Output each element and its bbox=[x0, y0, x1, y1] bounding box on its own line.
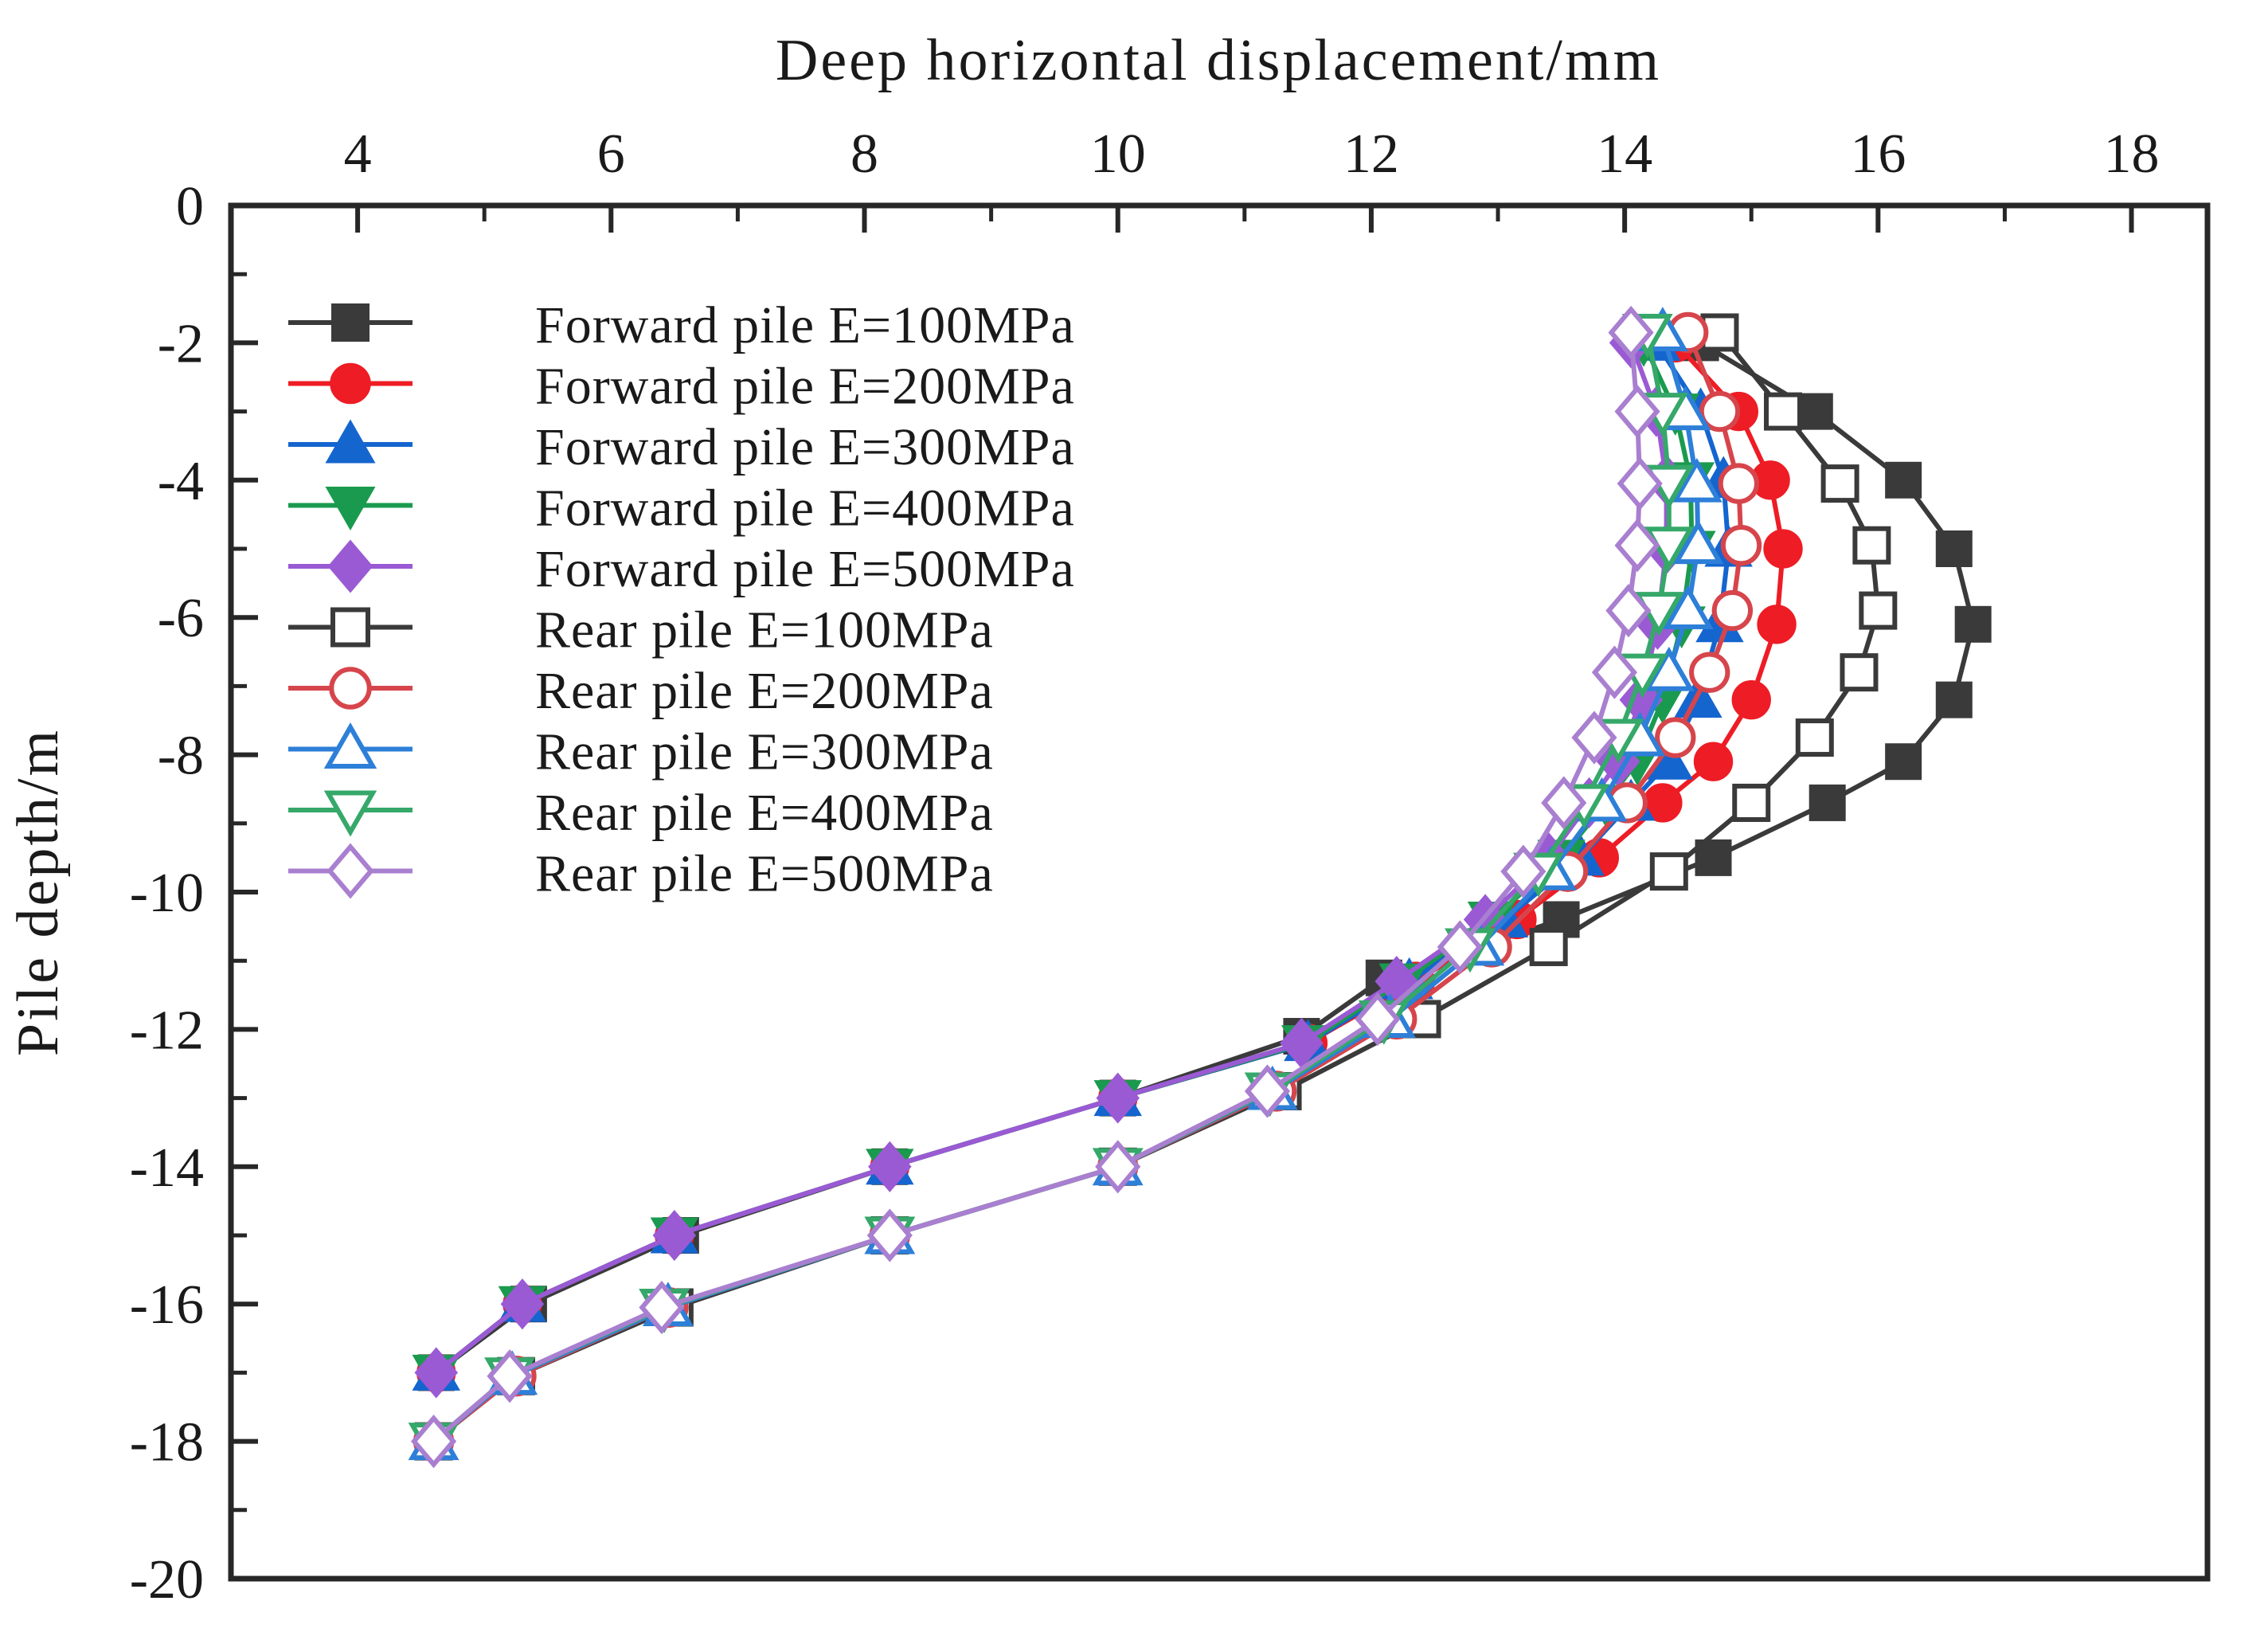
data-point-marker bbox=[1715, 593, 1750, 628]
legend-label: Forward pile E=400MPa bbox=[535, 479, 1075, 538]
data-point-marker bbox=[1938, 532, 1971, 566]
y-tick-label: -14 bbox=[130, 1137, 204, 1199]
data-point-marker bbox=[1957, 608, 1990, 641]
x-tick-label: 6 bbox=[597, 123, 625, 185]
data-point-marker bbox=[1734, 682, 1769, 718]
data-point-marker bbox=[1657, 719, 1693, 755]
legend-label: Rear pile E=500MPa bbox=[535, 845, 994, 903]
line-chart: Deep horizontal displacement/mm Pile dep… bbox=[0, 0, 2268, 1640]
data-point-marker bbox=[1887, 464, 1920, 497]
data-point-marker bbox=[1765, 530, 1801, 566]
data-point-marker bbox=[1734, 786, 1768, 820]
x-axis-title: Deep horizontal displacement/mm bbox=[776, 28, 1661, 93]
data-point-marker bbox=[331, 365, 370, 403]
legend-label: Forward pile E=100MPa bbox=[535, 296, 1075, 354]
data-point-marker bbox=[1532, 930, 1566, 964]
y-tick-label: -4 bbox=[158, 451, 204, 512]
data-point-marker bbox=[1721, 465, 1757, 501]
data-point-marker bbox=[1691, 654, 1727, 690]
legend-label: Rear pile E=100MPa bbox=[535, 601, 994, 660]
y-tick-label: -18 bbox=[130, 1412, 204, 1474]
y-tick-label: -12 bbox=[130, 1000, 204, 1061]
data-point-marker bbox=[1811, 786, 1844, 820]
data-point-marker bbox=[1938, 683, 1971, 717]
data-point-marker bbox=[331, 669, 370, 707]
data-point-marker bbox=[1695, 744, 1731, 780]
y-tick-label: -10 bbox=[130, 863, 204, 924]
legend-label: Forward pile E=300MPa bbox=[535, 418, 1075, 476]
y-tick-label: -8 bbox=[158, 726, 204, 787]
legend-label: Rear pile E=200MPa bbox=[535, 662, 994, 720]
y-tick-label: -16 bbox=[130, 1274, 204, 1336]
legend-label: Forward pile E=200MPa bbox=[535, 358, 1075, 416]
x-tick-label: 16 bbox=[1850, 123, 1906, 185]
legend-label: Rear pile E=300MPa bbox=[535, 723, 994, 781]
chart-background bbox=[0, 0, 2268, 1640]
y-tick-label: -20 bbox=[130, 1549, 204, 1611]
data-point-marker bbox=[1723, 527, 1759, 563]
data-point-marker bbox=[1798, 721, 1832, 754]
data-point-marker bbox=[1824, 467, 1857, 500]
x-tick-label: 14 bbox=[1597, 123, 1652, 185]
data-point-marker bbox=[1766, 395, 1800, 429]
data-point-marker bbox=[333, 305, 368, 340]
y-tick-label: 0 bbox=[176, 176, 204, 237]
data-point-marker bbox=[1861, 594, 1895, 628]
data-point-marker bbox=[1652, 855, 1686, 888]
y-axis-title: Pile depth/m bbox=[6, 728, 71, 1056]
figure-container: Deep horizontal displacement/mm Pile dep… bbox=[0, 0, 2268, 1640]
legend-label: Forward pile E=500MPa bbox=[535, 540, 1075, 598]
data-point-marker bbox=[1758, 606, 1794, 642]
x-tick-label: 18 bbox=[2104, 123, 2160, 185]
y-tick-label: -2 bbox=[158, 313, 204, 374]
data-point-marker bbox=[333, 610, 368, 645]
data-point-marker bbox=[1842, 656, 1875, 689]
legend-label: Rear pile E=400MPa bbox=[535, 784, 994, 842]
data-point-marker bbox=[1855, 529, 1888, 562]
data-point-marker bbox=[1798, 395, 1832, 429]
y-tick-label: -6 bbox=[158, 588, 204, 649]
x-tick-label: 8 bbox=[850, 123, 878, 185]
x-tick-label: 10 bbox=[1090, 123, 1146, 185]
data-point-marker bbox=[1887, 745, 1920, 778]
x-tick-label: 12 bbox=[1343, 123, 1399, 185]
x-tick-label: 4 bbox=[344, 123, 372, 185]
